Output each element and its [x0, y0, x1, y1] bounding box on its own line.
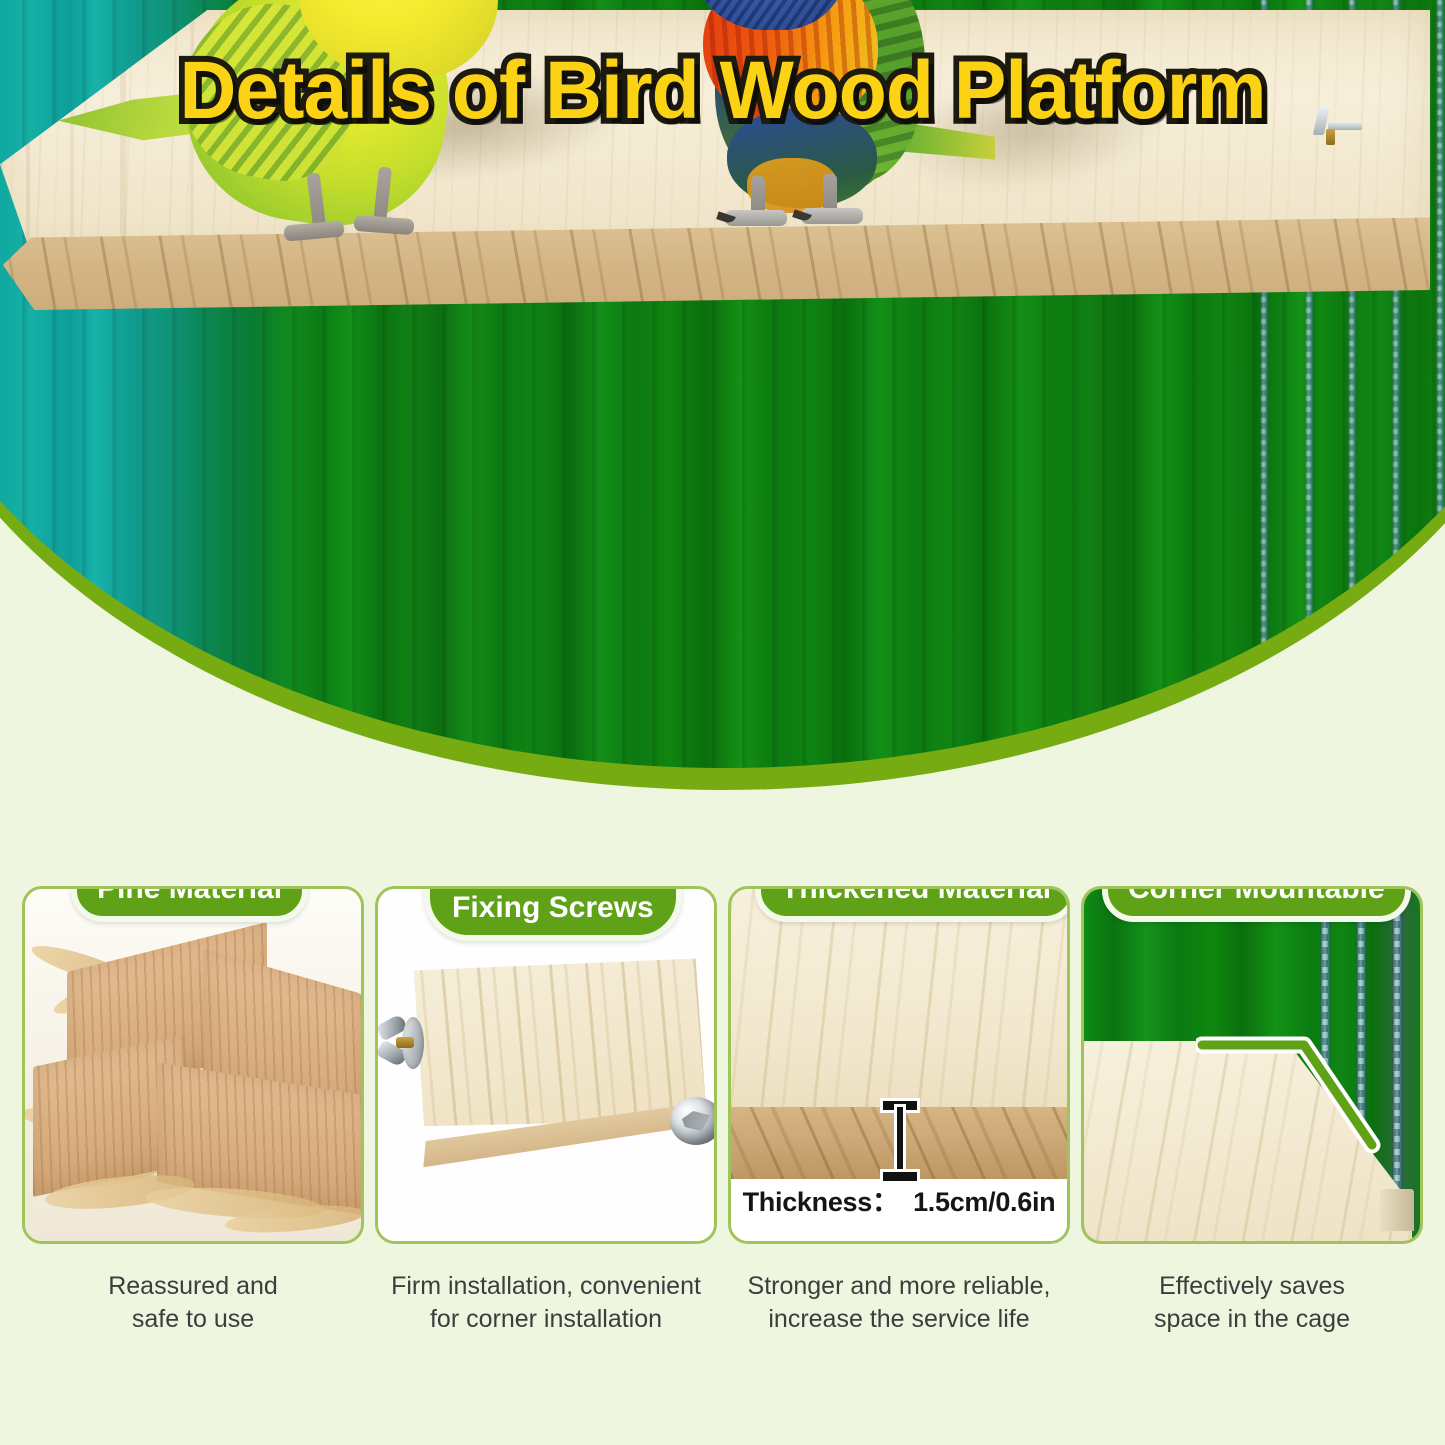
caption-pine-material: Reassured and safe to use: [22, 1270, 364, 1336]
thickness-label-text: Thickness：: [743, 1187, 899, 1217]
thickness-board-top: [731, 889, 1067, 1107]
corner-mount-image: [1084, 889, 1420, 1241]
hero-section: Details of Bird Wood Platform: [0, 0, 1445, 790]
feature-badge-thickened-material: Thickened Material: [755, 886, 1070, 922]
badge-line-2: Fixing Screws: [452, 893, 654, 924]
caption-corner-mountable: Effectively saves space in the cage: [1081, 1270, 1423, 1336]
feature-card-thickened-material[interactable]: Thickness： 1.5cm/0.6in Thickened Materia…: [728, 886, 1070, 1244]
thickness-readout: Thickness： 1.5cm/0.6in: [731, 1180, 1067, 1219]
side-screws-image: [378, 889, 714, 1241]
feature-caption-row: Reassured and safe to use Firm installat…: [22, 1270, 1423, 1336]
caption-line-2: space in the cage: [1081, 1303, 1423, 1336]
caption-line-1: Effectively saves: [1081, 1270, 1423, 1303]
corner-mount-bracket: [1380, 1189, 1414, 1231]
feature-card-row: Pine Material Increase Side Fixing Screw…: [22, 886, 1423, 1244]
caption-line-1: Reassured and: [22, 1270, 364, 1303]
feature-badge-side-screws: Increase Side Fixing Screws: [424, 886, 682, 941]
pine-material-image: [25, 889, 361, 1241]
caption-line-1: Firm installation, convenient: [375, 1270, 717, 1303]
thickness-measure-icon: [883, 1101, 917, 1181]
badge-line-1: Corner Mountable: [1128, 886, 1385, 905]
caption-line-2: increase the service life: [728, 1303, 1070, 1336]
budgie-foot-left: [283, 220, 344, 241]
features-section: Pine Material Increase Side Fixing Screw…: [0, 858, 1445, 1445]
caption-line-2: safe to use: [22, 1303, 364, 1336]
feature-card-corner-mountable[interactable]: Corner Mountable: [1081, 886, 1423, 1244]
dome-nut-icon: [670, 1097, 714, 1145]
feature-card-pine-material[interactable]: Pine Material: [22, 886, 364, 1244]
caption-side-screws: Firm installation, convenient for corner…: [375, 1270, 717, 1336]
feature-card-side-screws[interactable]: Increase Side Fixing Screws: [375, 886, 717, 1244]
feature-badge-corner-mountable: Corner Mountable: [1102, 886, 1411, 922]
caption-line-1: Stronger and more reliable,: [728, 1270, 1070, 1303]
thickness-value: 1.5cm/0.6in: [913, 1187, 1055, 1217]
caption-thickened-material: Stronger and more reliable, increase the…: [728, 1270, 1070, 1336]
feature-badge-pine-material: Pine Material: [71, 886, 308, 922]
page-title: Details of Bird Wood Platform: [29, 44, 1416, 138]
corner-angle-highlight: [1196, 1033, 1381, 1163]
badge-line-1: Pine Material: [97, 886, 282, 905]
caption-line-2: for corner installation: [375, 1303, 717, 1336]
budgie-foot-right: [354, 215, 415, 235]
wingnut-screw-icon: [380, 1011, 440, 1073]
badge-line-1: Thickened Material: [781, 886, 1051, 905]
